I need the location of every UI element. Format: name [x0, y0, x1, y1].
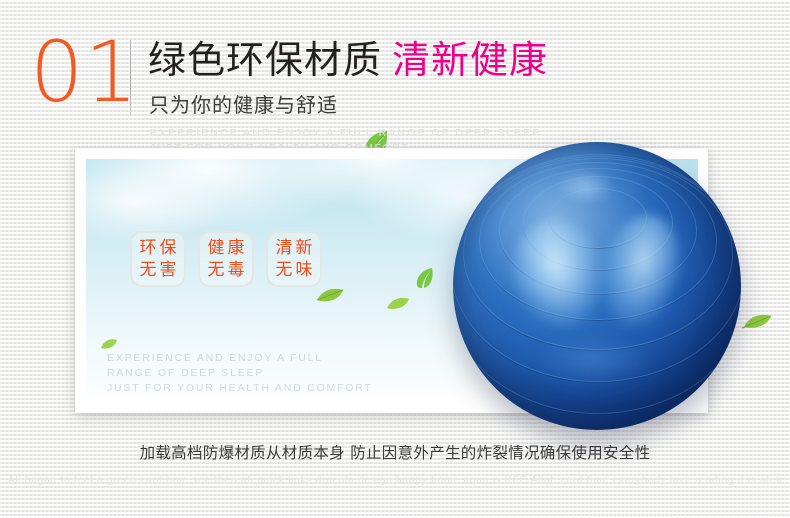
panel-english-line-2: RANGE OF DEEP SLEEP — [107, 366, 373, 381]
leaf-icon — [742, 312, 772, 335]
feature-badge-row: 环保 无害 健康 无毒 清新 无味 — [130, 231, 322, 287]
section-number: 01 — [30, 30, 139, 114]
badge-line-1: 健康 — [205, 237, 248, 259]
page-title-primary: 绿色环保材质 — [148, 38, 382, 82]
header-divider — [130, 40, 131, 116]
badge-line-2: 无味 — [273, 259, 316, 281]
ball-ring — [523, 176, 673, 270]
ball-highlight — [592, 207, 690, 332]
product-exercise-ball — [453, 142, 741, 430]
ball-ring — [453, 154, 741, 414]
page-title-accent: 清新健康 — [392, 38, 548, 82]
ball-ring — [499, 168, 697, 294]
ball-highlight — [539, 338, 649, 382]
leaf-icon — [414, 267, 434, 294]
page-title: 绿色环保材质清新健康 — [148, 38, 548, 82]
badge-line-2: 无害 — [137, 259, 180, 281]
badge-line-2: 无毒 — [205, 259, 248, 281]
badge-line-1: 环保 — [137, 237, 180, 259]
ball-highlight — [557, 170, 613, 204]
feature-badge: 环保 无害 — [130, 231, 186, 287]
ball-ring — [549, 188, 647, 248]
ball-ring — [463, 158, 733, 350]
feature-badge: 清新 无味 — [266, 231, 322, 287]
panel-english-line-3: JUST FOR YOUR HEALTH AND COMFORT — [107, 381, 373, 396]
page-subtitle: 只为你的健康与舒适 — [149, 92, 338, 118]
feature-badge: 健康 无毒 — [198, 231, 254, 287]
ball-highlight — [501, 211, 614, 338]
ball-ring — [453, 156, 741, 382]
ball-rim-shading — [453, 142, 741, 430]
header-english-line-1: EXPERIENCE AND ENJOY A FULL RANGE OF DEE… — [150, 126, 541, 141]
leaf-icon — [316, 287, 344, 308]
footer-caption: 加载高档防爆材质从材质本身 防止因意外产生的炸裂情况确保使用安全性 — [0, 442, 790, 464]
product-banner: 01 绿色环保材质清新健康 只为你的健康与舒适 EXPERIENCE AND E… — [0, 0, 790, 518]
ball-ring — [479, 162, 717, 320]
badge-line-1: 清新 — [273, 237, 316, 259]
panel-english-text: EXPERIENCE AND ENJOY A FULL RANGE OF DEE… — [107, 351, 373, 396]
footer-caption-english: Ali began to feel a green card time see … — [0, 472, 790, 488]
panel-english-line-1: EXPERIENCE AND ENJOY A FULL — [107, 351, 373, 366]
leaf-icon — [386, 296, 410, 316]
header-section: 01 绿色环保材质清新健康 只为你的健康与舒适 EXPERIENCE AND E… — [30, 32, 650, 157]
